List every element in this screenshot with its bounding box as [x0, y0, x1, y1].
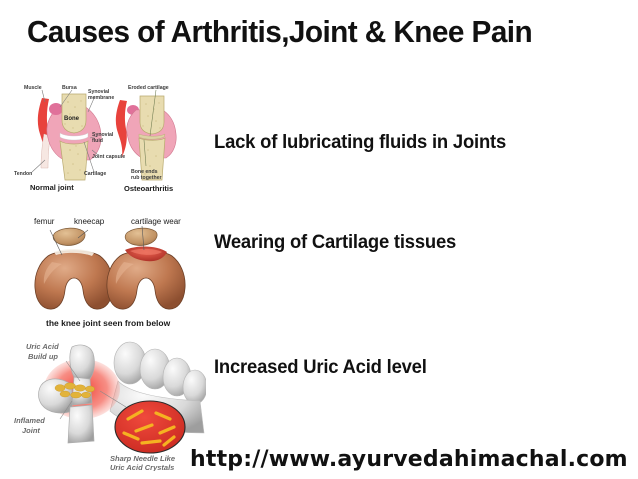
label-uric-acid-1: Uric Acid	[26, 342, 59, 351]
gout-illustration: Uric Acid Build up Inflamed Joint Sharp …	[10, 333, 206, 471]
label-tendon: Tendon	[14, 171, 32, 177]
label-joint-capsule: Joint capsule	[92, 154, 125, 160]
slide-canvas: Causes of Arthritis,Joint & Knee Pain	[0, 0, 638, 479]
label-muscle: Muscle	[24, 85, 42, 91]
joint-anatomy-illustration: Muscle Bursa Synovial membrane Bone Syno…	[12, 80, 196, 195]
bullet-text-wearing-of-cartilage: Wearing of Cartilage tissues	[214, 232, 456, 254]
label-eroded-cartilage: Eroded cartilage	[128, 85, 169, 91]
label-cartilage: Cartilage	[84, 171, 106, 177]
label-inflamed-2: Joint	[22, 426, 40, 435]
label-femur: femur	[34, 217, 55, 226]
caption-knee-from-below: the knee joint seen from below	[46, 318, 171, 328]
upper-bone-shape	[62, 94, 86, 133]
label-bursa: Bursa	[62, 85, 77, 91]
figure-gout-uric-acid: Uric Acid Build up Inflamed Joint Sharp …	[10, 333, 206, 471]
uric-acid-crystal-inset	[115, 401, 185, 453]
label-cartilage-wear: cartilage wear	[131, 217, 181, 226]
label-synovial-fluid-2: fluid	[92, 138, 103, 144]
distal-phalanx	[70, 345, 95, 379]
label-bone-ends-2: rub together	[131, 175, 162, 181]
bursa-shape	[49, 103, 63, 115]
figure-joint-anatomy: Muscle Bursa Synovial membrane Bone Syno…	[12, 80, 196, 195]
footer-website-url[interactable]: http://www.ayurvedahimachal.com	[190, 447, 628, 472]
label-kneecap: kneecap	[74, 217, 105, 226]
label-bone: Bone	[64, 116, 80, 122]
caption-osteoarthritis: Osteoarthritis	[124, 184, 173, 193]
knee-illustration: femur kneecap cartilage wear the knee jo…	[12, 210, 196, 332]
label-synovial-membrane-2: membrane	[88, 95, 114, 101]
label-inflamed-1: Inflamed	[14, 416, 45, 425]
bullet-text-increased-uric-acid: Increased Uric Acid level	[214, 357, 427, 379]
bullet-text-lack-of-lubricating-fluids: Lack of lubricating fluids in Joints	[214, 132, 506, 154]
page-title: Causes of Arthritis,Joint & Knee Pain	[27, 14, 603, 50]
caption-normal-joint: Normal joint	[30, 183, 74, 192]
figure-knee-from-below: femur kneecap cartilage wear the knee jo…	[12, 210, 196, 332]
label-uric-acid-2: Build up	[28, 352, 58, 361]
label-crystals-1: Sharp Needle Like	[110, 454, 175, 463]
label-crystals-2: Uric Acid Crystals	[110, 463, 174, 471]
metatarsal-shaft	[68, 405, 94, 443]
